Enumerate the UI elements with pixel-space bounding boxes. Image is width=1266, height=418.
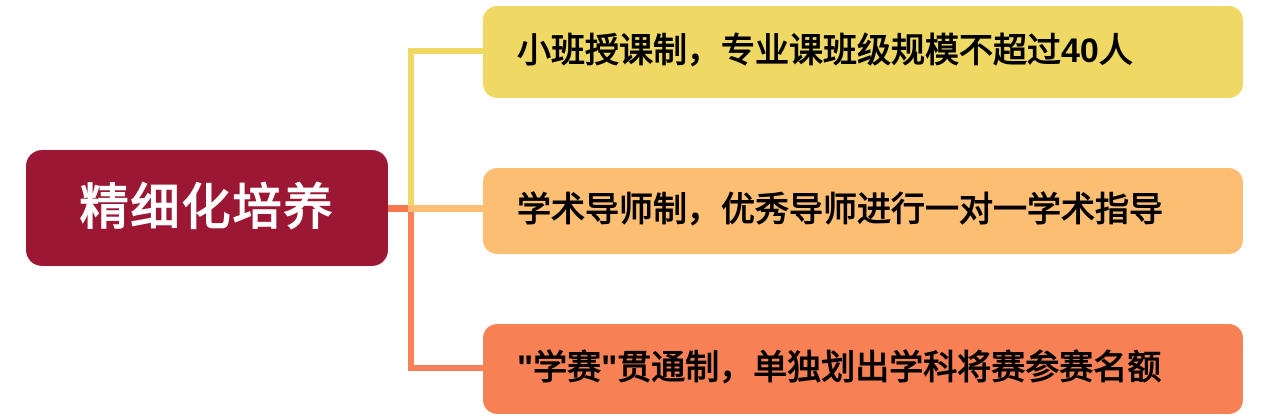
branch-node-2[interactable]: 学术导师制，优秀导师进行一对一学术指导 — [483, 168, 1243, 254]
connector-trunk-lower — [408, 211, 414, 371]
mindmap-canvas: 精细化培养 小班授课制，专业课班级规模不超过40人 学术导师制，优秀导师进行一对… — [0, 0, 1266, 418]
branch-node-2-label: 学术导师制，优秀导师进行一对一学术指导 — [517, 191, 1163, 230]
branch-node-3[interactable]: "学赛"贯通制，单独划出学科将赛参赛名额 — [483, 324, 1243, 414]
connector-trunk-upper — [408, 48, 414, 211]
root-node[interactable]: 精细化培养 — [26, 150, 388, 266]
connector-arm-branch-3 — [408, 365, 488, 371]
root-node-label: 精细化培养 — [79, 184, 334, 233]
branch-node-3-label: "学赛"贯通制，单独划出学科将赛参赛名额 — [517, 349, 1161, 388]
connector-arm-branch-1 — [408, 48, 488, 54]
connector-arm-branch-2 — [408, 205, 488, 212]
branch-node-1[interactable]: 小班授课制，专业课班级规模不超过40人 — [483, 6, 1243, 98]
branch-node-1-label: 小班授课制，专业课班级规模不超过40人 — [517, 32, 1133, 71]
